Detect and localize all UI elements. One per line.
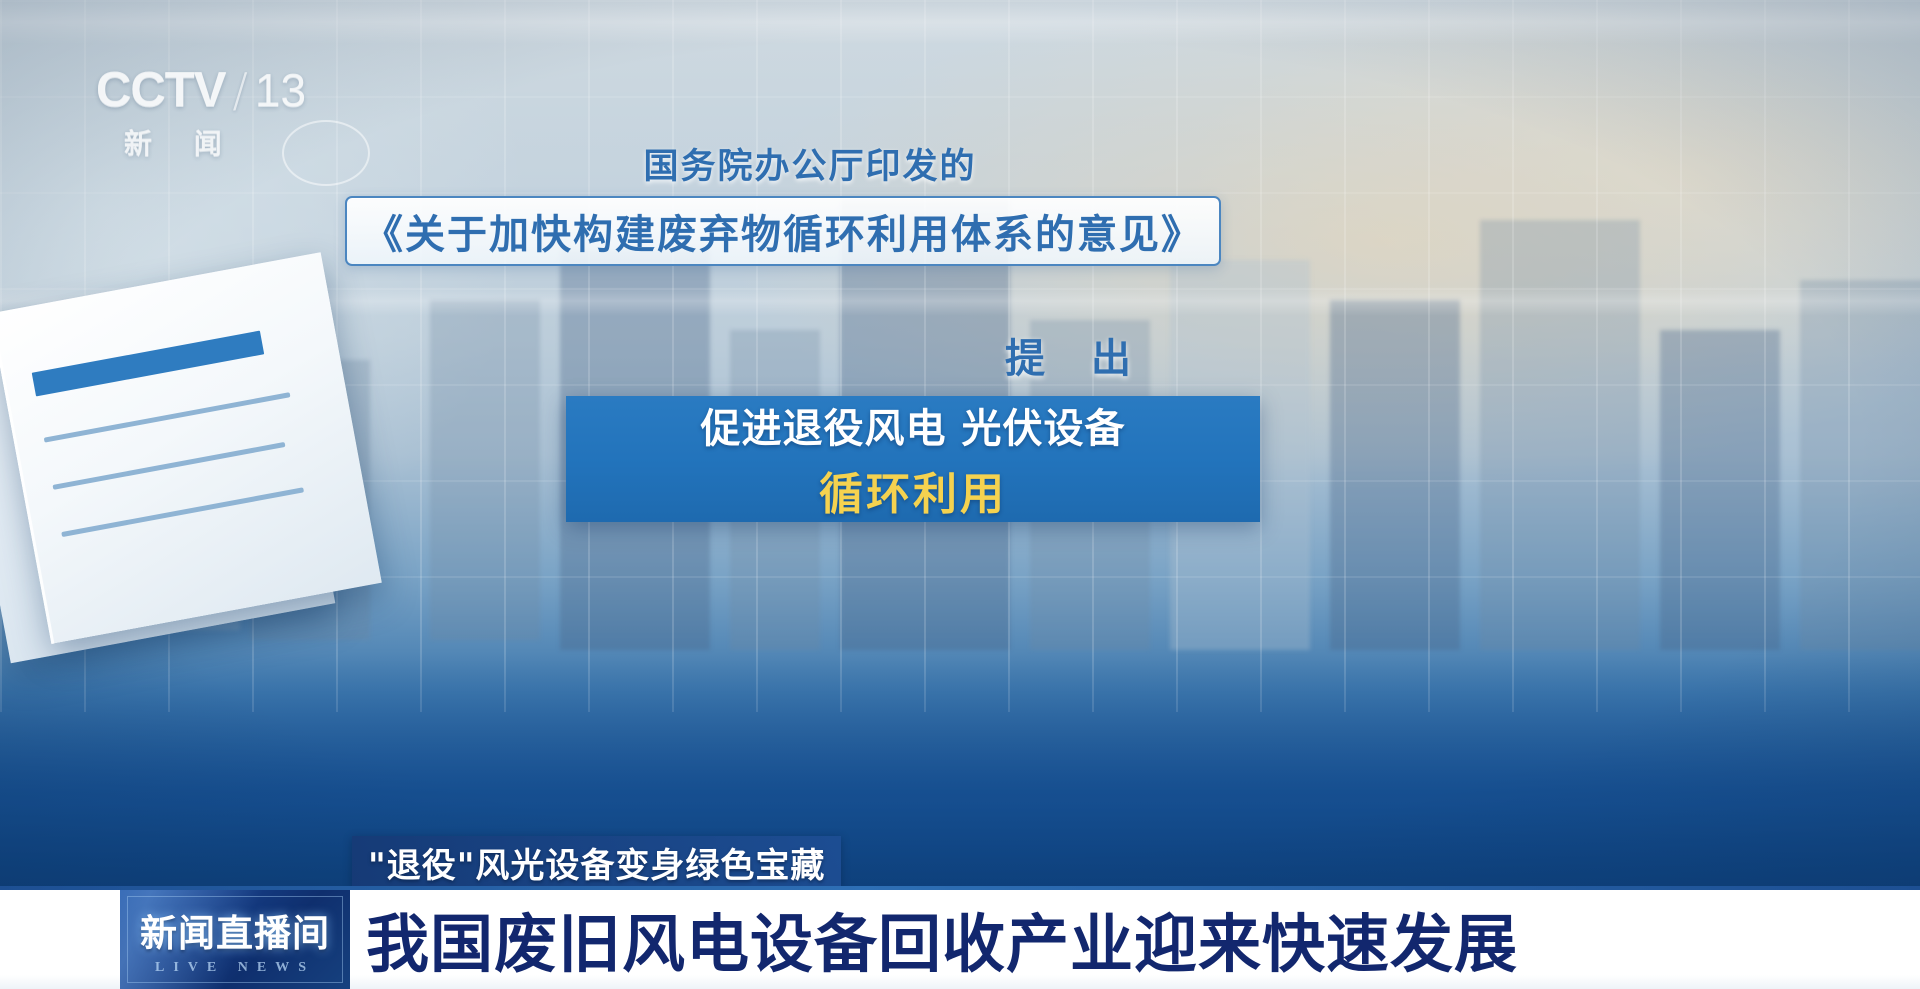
highlight-panel: 促进退役风电 光伏设备 循环利用 (566, 396, 1260, 522)
document-title-box: 《关于加快构建废弃物循环利用体系的意见》 (345, 196, 1221, 266)
lower-third-kicker-text: "退役"风光设备变身绿色宝藏 (368, 838, 825, 887)
channel-bug-text: CCTV (96, 62, 225, 118)
highlight-panel-line1: 促进退役风电 光伏设备 (701, 396, 1126, 454)
caption-verb-text: 提 出 (1005, 326, 1147, 384)
program-logo-title: 新闻直播间 (140, 903, 330, 957)
program-logo: 新闻直播间 LIVE NEWS (120, 890, 350, 989)
channel-bug-separator: / (232, 63, 248, 117)
highlight-panel-line2: 循环利用 (819, 458, 1007, 522)
lower-third-kicker: "退役"风光设备变身绿色宝藏 (352, 836, 841, 888)
channel-bug-number: 13 (255, 63, 306, 117)
document-title-text: 《关于加快构建废弃物循环利用体系的意见》 (363, 202, 1203, 260)
broadcast-frame: CCTV / 13 新 闻 国务院办公厅印发的 《关于加快构建废弃物循环利用体系… (0, 0, 1920, 989)
caption-preamble-text: 国务院办公厅印发的 (643, 138, 976, 189)
caption-verb: 提 出 (0, 326, 1920, 384)
document-edge-highlight (0, 252, 385, 644)
caption-preamble: 国务院办公厅印发的 (0, 138, 1920, 189)
lower-third-headline: 我国废旧风电设备回收产业迎来快速发展 (366, 890, 1518, 989)
program-logo-subtitle: LIVE NEWS (155, 960, 315, 976)
lower-third-headline-text: 我国废旧风电设备回收产业迎来快速发展 (366, 894, 1518, 985)
